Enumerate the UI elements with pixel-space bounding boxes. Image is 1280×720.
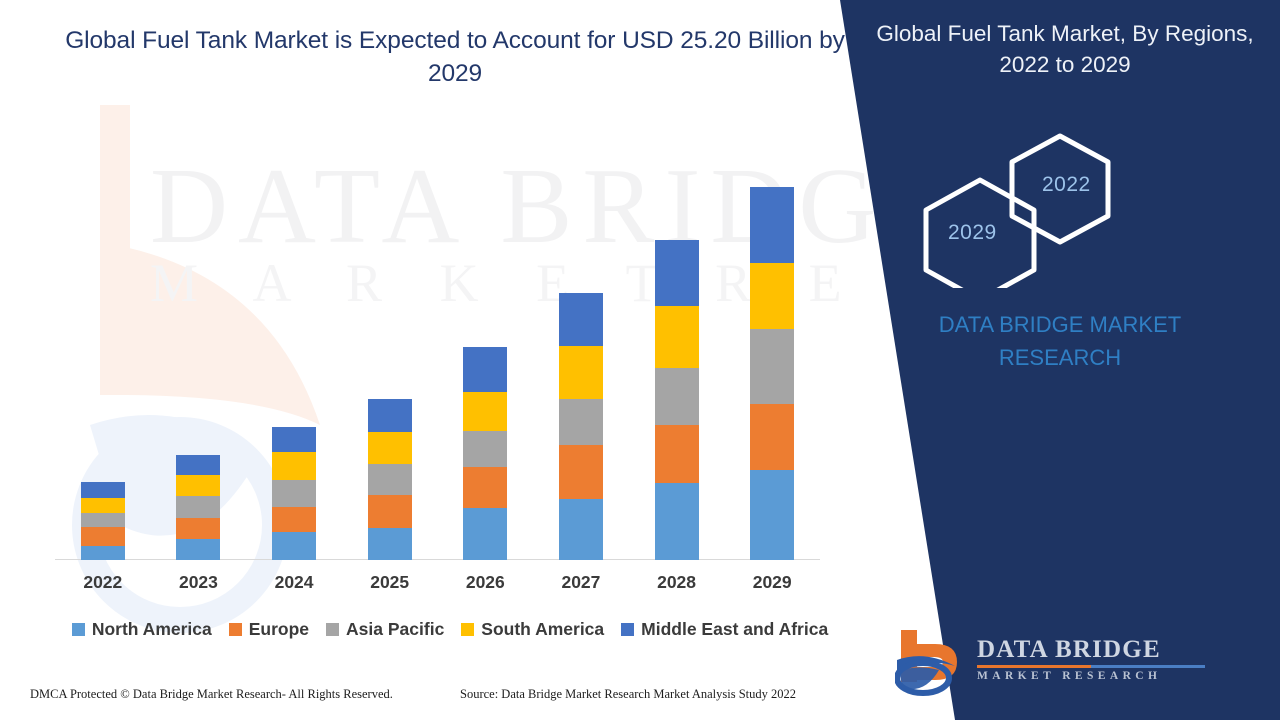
infographic-root: DATA BRIDGE M A R K E T R E S E A R C H … [0,0,1280,720]
legend-swatch-icon [461,623,474,636]
x-axis-tick-2027: 2027 [546,572,616,593]
bar-segment-2025-north-america [368,528,412,560]
bar-segment-2024-north-america [272,532,316,560]
bar-segment-2024-europe [272,507,316,532]
hexagon-label-2022: 2022 [1042,173,1091,197]
bar-segment-2029-middle-east-and-africa [750,187,794,263]
legend-label: Asia Pacific [346,619,444,640]
bar-segment-2029-north-america [750,470,794,560]
bar-segment-2027-middle-east-and-africa [559,293,603,346]
stacked-bar-2025 [368,399,412,560]
stacked-bar-2027 [559,293,603,560]
bar-segment-2022-south-america [81,498,125,513]
page-title: Global Fuel Tank Market is Expected to A… [45,24,865,90]
bar-segment-2023-north-america [176,539,220,560]
legend-label: South America [481,619,604,640]
bar-segment-2028-europe [655,425,699,483]
branding-wordmark-line1: DATA BRIDGE MARKET [860,308,1260,341]
footer-dmca-text: DMCA Protected © Data Bridge Market Rese… [30,687,393,702]
bar-segment-2028-asia-pacific [655,368,699,425]
branding-title: Global Fuel Tank Market, By Regions, 202… [870,18,1260,80]
stacked-bar-2023 [176,455,220,560]
footer-source-text: Source: Data Bridge Market Research Mark… [460,687,796,702]
legend-item-europe[interactable]: Europe [229,619,309,640]
bar-segment-2026-middle-east-and-africa [463,347,507,392]
branding-panel: Global Fuel Tank Market, By Regions, 202… [840,0,1280,720]
stacked-bar-2022 [81,482,125,560]
bar-segment-2024-south-america [272,452,316,480]
legend-item-middle-east-and-africa[interactable]: Middle East and Africa [621,619,828,640]
bar-segment-2023-south-america [176,475,220,496]
branding-wordmark-line2: RESEARCH [860,341,1260,374]
x-axis-tick-2022: 2022 [68,572,138,593]
bar-segment-2026-north-america [463,508,507,560]
branding-wordmark: DATA BRIDGE MARKET RESEARCH [860,308,1260,374]
bar-segment-2029-europe [750,404,794,470]
bar-segment-2024-asia-pacific [272,480,316,507]
company-logo-text: DATA BRIDGE MARKET RESEARCH [977,636,1207,682]
company-logo-sub-text: MARKET RESEARCH [977,670,1207,682]
stacked-bar-2029 [750,187,794,560]
x-axis-tick-2023: 2023 [163,572,233,593]
legend-swatch-icon [326,623,339,636]
logo-divider-rule [977,665,1205,668]
bar-segment-2025-europe [368,495,412,528]
bar-segment-2028-north-america [655,483,699,560]
stacked-bar-2026 [463,347,507,560]
chart-legend: North AmericaEuropeAsia PacificSouth Ame… [55,614,845,644]
bar-segment-2023-europe [176,518,220,539]
chart-panel: DATA BRIDGE M A R K E T R E S E A R C H … [0,0,900,720]
chart-plot-area [55,170,820,560]
bar-segment-2023-middle-east-and-africa [176,455,220,475]
bar-segment-2025-south-america [368,432,412,464]
bar-segment-2024-middle-east-and-africa [272,427,316,452]
bar-segment-2026-south-america [463,392,507,431]
legend-item-south-america[interactable]: South America [461,619,604,640]
x-axis-labels: 20222023202420252026202720282029 [55,572,820,602]
bar-segment-2026-europe [463,467,507,508]
stacked-bar-2028 [655,240,699,560]
x-axis-tick-2024: 2024 [259,572,329,593]
legend-swatch-icon [621,623,634,636]
legend-label: Middle East and Africa [641,619,828,640]
bar-segment-2025-middle-east-and-africa [368,399,412,432]
x-axis-tick-2028: 2028 [642,572,712,593]
hexagon-badges: 2022 2029 [860,128,1260,288]
bar-segment-2027-north-america [559,499,603,560]
legend-label: North America [92,619,212,640]
footer: DMCA Protected © Data Bridge Market Rese… [0,682,900,720]
bar-segment-2022-north-america [81,546,125,560]
bar-segment-2029-asia-pacific [750,329,794,404]
x-axis-tick-2029: 2029 [737,572,807,593]
legend-item-north-america[interactable]: North America [72,619,212,640]
data-bridge-b-logo-icon [895,626,975,698]
company-logo-main-text: DATA BRIDGE [977,636,1207,664]
bar-segment-2027-europe [559,445,603,499]
x-axis-tick-2025: 2025 [355,572,425,593]
legend-item-asia-pacific[interactable]: Asia Pacific [326,619,444,640]
hexagon-label-2029: 2029 [948,221,997,245]
bar-segment-2027-asia-pacific [559,399,603,445]
company-logo: DATA BRIDGE MARKET RESEARCH [895,630,1255,700]
bar-segment-2027-south-america [559,346,603,399]
bar-segment-2022-asia-pacific [81,513,125,527]
bar-segment-2029-south-america [750,263,794,329]
bar-segment-2028-middle-east-and-africa [655,240,699,306]
legend-swatch-icon [72,623,85,636]
legend-swatch-icon [229,623,242,636]
bar-segment-2023-asia-pacific [176,496,220,518]
legend-label: Europe [249,619,309,640]
x-axis-tick-2026: 2026 [450,572,520,593]
x-axis-line [55,559,820,560]
bar-segment-2022-europe [81,527,125,546]
bar-segment-2026-asia-pacific [463,431,507,467]
bar-segment-2025-asia-pacific [368,464,412,495]
bar-segment-2028-south-america [655,306,699,368]
bar-segment-2022-middle-east-and-africa [81,482,125,498]
stacked-bar-2024 [272,427,316,560]
